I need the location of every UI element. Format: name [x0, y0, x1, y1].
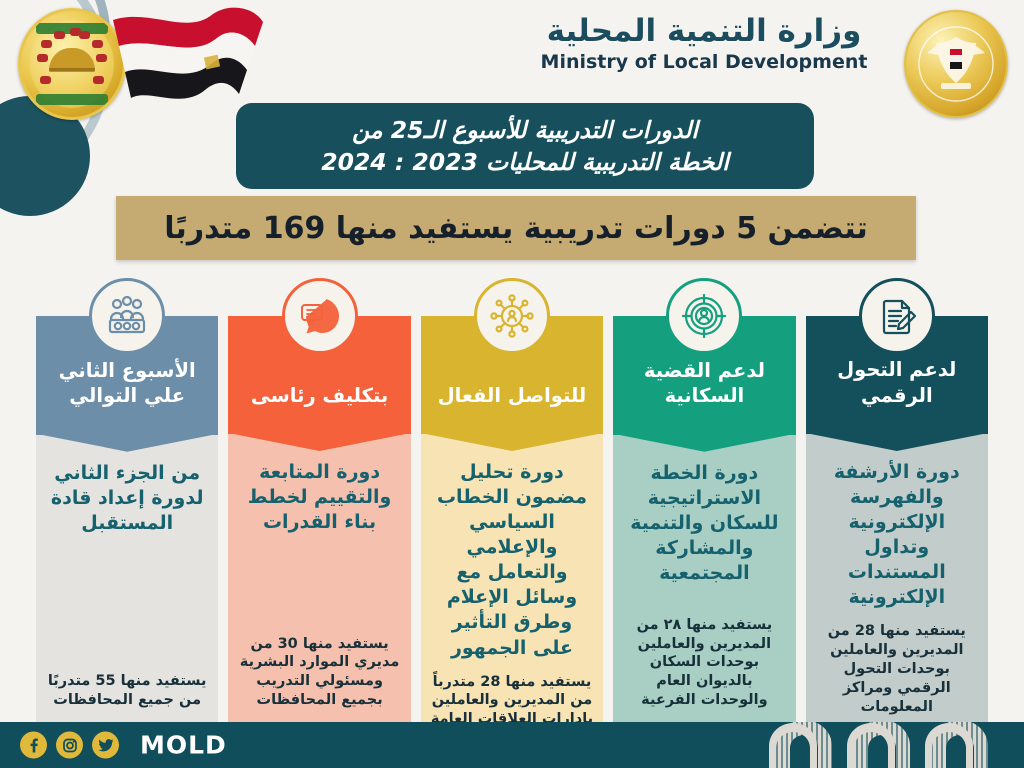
course-columns: لدعم التحول الرقميدورة الأرشفة والفهرسة … [36, 278, 988, 722]
team-group-icon [89, 278, 165, 354]
ministry-name-english: Ministry of Local Development [514, 51, 894, 73]
course-title: دورة المتابعة والتقييم لخطط بناء القدرات [237, 460, 401, 535]
phone-chat-icon [282, 278, 358, 354]
course-title: دورة الأرشفة والفهرسة الإلكترونية وتداول… [815, 460, 979, 610]
network-person-icon [474, 278, 550, 354]
course-beneficiaries-note: يستفيد منها ٢٨ من المديرين والعاملين بوح… [622, 604, 786, 710]
title-banner: الدورات التدريبية للأسبوع الـ25 من الخطة… [236, 103, 814, 189]
course-column-1: لدعم التحول الرقميدورة الأرشفة والفهرسة … [806, 278, 988, 722]
infographic-page: وزارة التنمية المحلية Ministry of Local … [0, 0, 1024, 768]
course-beneficiaries-note: يستفيد منها 55 متدربًا من جميع المحافظات [45, 660, 209, 710]
course-column-body-5: من الجزء الثاني لدورة إعداد قادة المستقب… [36, 435, 218, 722]
course-column-4: بتكليف رئاسىدورة المتابعة والتقييم لخطط … [228, 278, 410, 722]
social-links: MOLD [20, 731, 227, 760]
course-column-body-3: دورة تحليل مضمون الخطاب السياسي والإعلام… [421, 434, 603, 760]
course-column-2: لدعم القضية السكانيةدورة الخطة الاستراتي… [613, 278, 795, 722]
egypt-ministry-eagle-seal [904, 10, 1008, 118]
ministry-name-arabic: وزارة التنمية المحلية [514, 14, 894, 49]
course-column-body-2: دورة الخطة الاستراتيجية للسكان والتنمية … [613, 435, 795, 722]
document-pencil-icon [859, 278, 935, 354]
summary-banner: تتضمن 5 دورات تدريبية يستفيد منها 169 مت… [116, 196, 916, 260]
course-column-body-1: دورة الأرشفة والفهرسة الإلكترونية وتداول… [806, 434, 988, 729]
title-line-2: الخطة التدريبية للمحليات 2023 : 2024 [321, 146, 729, 178]
course-header-label: للتواصل الفعال [438, 383, 586, 408]
course-title: دورة تحليل مضمون الخطاب السياسي والإعلام… [430, 460, 594, 661]
summary-text: تتضمن 5 دورات تدريبية يستفيد منها 169 مت… [164, 212, 867, 245]
course-title: دورة الخطة الاستراتيجية للسكان والتنمية … [622, 461, 786, 586]
page-footer: MOLD [0, 722, 1024, 768]
title-line-1: الدورات التدريبية للأسبوع الـ25 من [321, 114, 729, 146]
course-column-body-4: دورة المتابعة والتقييم لخطط بناء القدرات… [228, 434, 410, 722]
course-beneficiaries-note: يستفيد منها 30 من مديري الموارد البشرية … [237, 623, 401, 710]
twitter-icon[interactable] [92, 732, 119, 759]
course-header-label: الأسبوع الثاني علي التوالي [44, 358, 210, 409]
course-column-5: الأسبوع الثاني علي التواليمن الجزء الثان… [36, 278, 218, 722]
course-column-3: للتواصل الفعالدورة تحليل مضمون الخطاب ال… [421, 278, 603, 722]
instagram-icon[interactable] [56, 732, 83, 759]
page-header: وزارة التنمية المحلية Ministry of Local … [0, 0, 1024, 108]
ministry-name-block: وزارة التنمية المحلية Ministry of Local … [514, 14, 894, 73]
course-title: من الجزء الثاني لدورة إعداد قادة المستقب… [45, 461, 209, 536]
target-person-icon [666, 278, 742, 354]
brand-label: MOLD [140, 731, 227, 760]
facebook-icon[interactable] [20, 732, 47, 759]
course-beneficiaries-note: يستفيد منها 28 من المديرين والعاملين بوح… [815, 610, 979, 716]
course-header-label: لدعم التحول الرقمي [814, 357, 980, 408]
course-header-label: بتكليف رئاسى [251, 383, 388, 408]
egypt-flag-ribbon [105, 2, 265, 110]
course-header-label: لدعم القضية السكانية [621, 358, 787, 409]
decorative-arches [766, 722, 1016, 768]
